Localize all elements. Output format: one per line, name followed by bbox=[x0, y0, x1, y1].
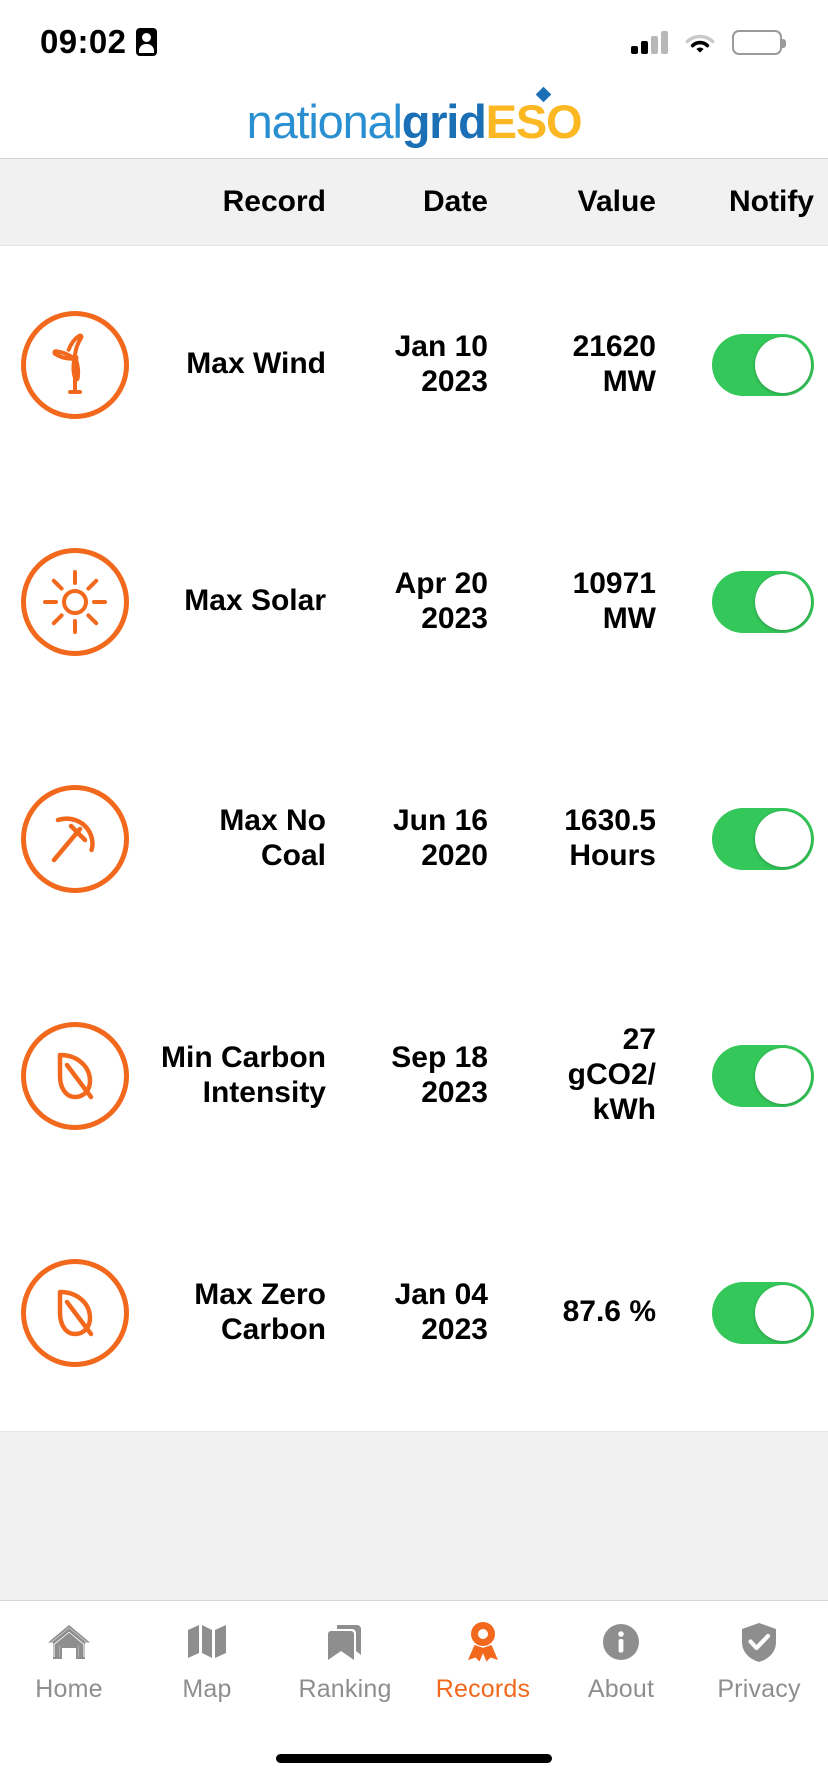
row-value-unit: gCO2/ kWh bbox=[500, 1058, 656, 1128]
row-date-line1: Jan 04 bbox=[340, 1278, 488, 1313]
brand-header: nationalgridESO bbox=[0, 84, 828, 158]
tab-label-about: About bbox=[588, 1675, 654, 1704]
tab-label-ranking: Ranking bbox=[298, 1675, 391, 1704]
pickaxe-icon bbox=[21, 785, 129, 893]
notify-toggle[interactable] bbox=[712, 334, 814, 396]
home-indicator[interactable] bbox=[276, 1754, 552, 1763]
table-row[interactable]: Min Carbon Intensity Sep 18 2023 27 gCO2… bbox=[0, 957, 828, 1194]
tab-ranking[interactable]: Ranking bbox=[276, 1619, 414, 1704]
table-row[interactable]: Max Solar Apr 20 2023 10971 MW bbox=[0, 483, 828, 720]
row-date-line2: 2023 bbox=[340, 1313, 488, 1348]
app-screen: 09:02 nationalgridESO bbox=[0, 0, 828, 1792]
row-icon-cell bbox=[0, 548, 150, 656]
table-row[interactable]: Max No Coal Jun 16 2020 1630.5 Hours bbox=[0, 720, 828, 957]
id-card-icon bbox=[136, 28, 157, 56]
info-circle-icon bbox=[599, 1619, 643, 1665]
row-value-number: 21620 bbox=[500, 330, 656, 365]
toggle-knob bbox=[755, 1048, 811, 1104]
toggle-knob bbox=[755, 1285, 811, 1341]
row-record-label: Max Zero Carbon bbox=[150, 1278, 340, 1348]
row-date-line2: 2023 bbox=[340, 1076, 488, 1111]
row-date-line1: Jan 10 bbox=[340, 330, 488, 365]
row-value-number: 1630.5 bbox=[500, 804, 656, 839]
notify-toggle[interactable] bbox=[712, 808, 814, 870]
row-icon-cell bbox=[0, 1022, 150, 1130]
row-record-label: Max Solar bbox=[150, 584, 340, 619]
empty-list-area bbox=[0, 1431, 828, 1600]
row-value-unit: Hours bbox=[500, 839, 656, 874]
row-value: 10971 MW bbox=[500, 567, 670, 637]
row-icon-cell bbox=[0, 1259, 150, 1367]
row-date: Jan 04 2023 bbox=[340, 1278, 500, 1348]
tab-label-home: Home bbox=[35, 1675, 103, 1704]
toggle-knob bbox=[755, 811, 811, 867]
logo-part-national: national bbox=[247, 95, 402, 148]
records-table-header: Record Date Value Notify bbox=[0, 158, 828, 246]
row-date-line2: 2023 bbox=[340, 365, 488, 400]
tab-label-map: Map bbox=[182, 1675, 231, 1704]
row-icon-cell bbox=[0, 785, 150, 893]
logo-part-eso: ESO bbox=[486, 95, 582, 148]
row-date-line1: Jun 16 bbox=[340, 804, 488, 839]
national-grid-eso-logo: nationalgridESO bbox=[247, 98, 582, 145]
row-notify-cell bbox=[670, 808, 828, 870]
header-value: Value bbox=[500, 185, 670, 219]
row-value-unit: MW bbox=[500, 602, 656, 637]
award-ribbon-icon bbox=[460, 1619, 506, 1665]
battery-full-icon bbox=[732, 30, 782, 55]
tab-label-privacy: Privacy bbox=[717, 1675, 800, 1704]
toggle-knob bbox=[755, 574, 811, 630]
notify-toggle[interactable] bbox=[712, 1282, 814, 1344]
row-date: Jan 10 2023 bbox=[340, 330, 500, 400]
header-date: Date bbox=[340, 185, 500, 219]
header-record: Record bbox=[150, 185, 340, 219]
wind-turbine-icon bbox=[21, 311, 129, 419]
map-icon bbox=[185, 1619, 229, 1665]
notify-toggle[interactable] bbox=[712, 1045, 814, 1107]
cellular-signal-icon bbox=[631, 30, 668, 54]
status-bar: 09:02 bbox=[0, 0, 828, 84]
home-icon bbox=[46, 1619, 92, 1665]
tab-label-records: Records bbox=[436, 1675, 531, 1704]
row-date-line1: Apr 20 bbox=[340, 567, 488, 602]
notify-toggle[interactable] bbox=[712, 571, 814, 633]
bottom-tab-bar: Home Map Ranking bbox=[0, 1600, 828, 1748]
status-time: 09:02 bbox=[40, 23, 126, 61]
row-notify-cell bbox=[670, 1282, 828, 1344]
header-notify: Notify bbox=[670, 185, 828, 219]
row-value: 27 gCO2/ kWh bbox=[500, 1023, 670, 1127]
row-value: 21620 MW bbox=[500, 330, 670, 400]
row-date: Jun 16 2020 bbox=[340, 804, 500, 874]
tab-records[interactable]: Records bbox=[414, 1619, 552, 1704]
row-record-label: Max Wind bbox=[150, 347, 340, 382]
wifi-icon bbox=[684, 30, 716, 54]
row-date-line2: 2020 bbox=[340, 839, 488, 874]
tab-home[interactable]: Home bbox=[0, 1619, 138, 1704]
leaf-icon bbox=[21, 1022, 129, 1130]
logo-part-grid: grid bbox=[402, 95, 486, 148]
row-notify-cell bbox=[670, 334, 828, 396]
row-date-line1: Sep 18 bbox=[340, 1041, 488, 1076]
table-row[interactable]: Max Zero Carbon Jan 04 2023 87.6 % bbox=[0, 1194, 828, 1431]
row-notify-cell bbox=[670, 1045, 828, 1107]
row-icon-cell bbox=[0, 311, 150, 419]
shield-check-icon bbox=[738, 1619, 780, 1665]
row-notify-cell bbox=[670, 571, 828, 633]
bookmarks-icon bbox=[323, 1619, 367, 1665]
row-record-label: Max No Coal bbox=[150, 804, 340, 874]
tab-about[interactable]: About bbox=[552, 1619, 690, 1704]
status-bar-right bbox=[631, 30, 782, 55]
row-value: 1630.5 Hours bbox=[500, 804, 670, 874]
row-value-number: 10971 bbox=[500, 567, 656, 602]
row-value-number: 27 bbox=[500, 1023, 656, 1058]
status-bar-left: 09:02 bbox=[40, 23, 157, 61]
row-record-label: Min Carbon Intensity bbox=[150, 1041, 340, 1111]
row-value: 87.6 % bbox=[500, 1295, 670, 1330]
row-value-unit: MW bbox=[500, 365, 656, 400]
tab-privacy[interactable]: Privacy bbox=[690, 1619, 828, 1704]
tab-map[interactable]: Map bbox=[138, 1619, 276, 1704]
table-row[interactable]: Max Wind Jan 10 2023 21620 MW bbox=[0, 246, 828, 483]
row-date: Apr 20 2023 bbox=[340, 567, 500, 637]
leaf-icon bbox=[21, 1259, 129, 1367]
row-value-number: 87.6 % bbox=[500, 1295, 656, 1330]
toggle-knob bbox=[755, 337, 811, 393]
row-date-line2: 2023 bbox=[340, 602, 488, 637]
home-indicator-area bbox=[0, 1748, 828, 1792]
row-date: Sep 18 2023 bbox=[340, 1041, 500, 1111]
sun-icon bbox=[21, 548, 129, 656]
records-list: Max Wind Jan 10 2023 21620 MW bbox=[0, 246, 828, 1431]
